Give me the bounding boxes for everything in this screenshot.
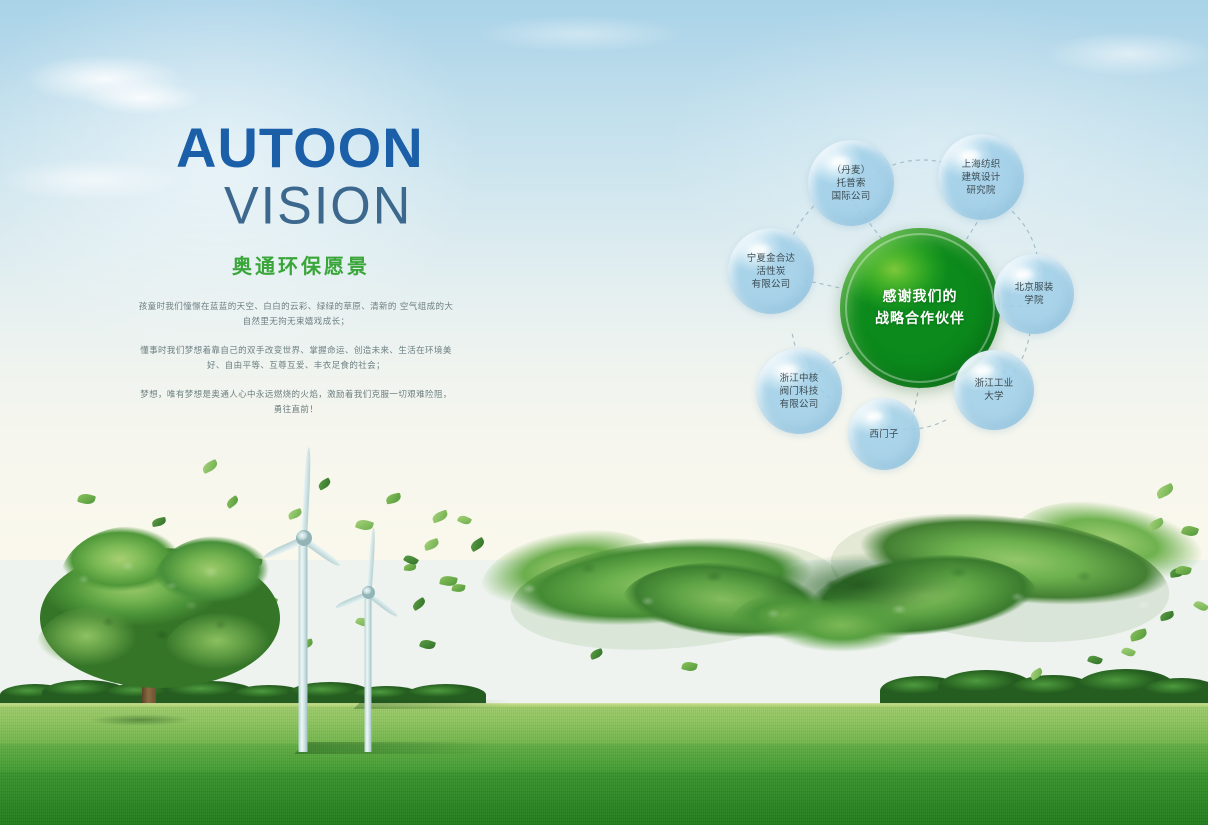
turbine-mast — [365, 592, 372, 752]
partner-label: 北京服装 学院 — [1009, 281, 1060, 307]
mission-paragraph: 孩童时我们憧憬在蓝蓝的天空、白白的云彩、绿绿的草原、清新的 空气组成的大自然里无… — [136, 300, 456, 330]
partner-bubble-zhonghe-valve[interactable]: 浙江中核 阀门科技 有限公司 — [756, 348, 842, 434]
partner-bubble-topsoe[interactable]: （丹麦） 托普索 国际公司 — [808, 140, 894, 226]
brand-block: AUTOON VISION 奥通环保愿景 — [176, 120, 596, 279]
partner-label-line: 西门子 — [869, 428, 898, 441]
hub-label: 感谢我们的 战略合作伙伴 — [875, 286, 965, 330]
turbine-hub — [362, 586, 375, 599]
tree-foliage-texture — [40, 530, 284, 694]
partner-label-line: 浙江工业 — [975, 377, 1014, 390]
partner-label-line: 阀门科技 — [780, 385, 819, 398]
partner-label-line: 有限公司 — [780, 398, 819, 411]
tree-shadow — [66, 712, 214, 728]
partner-label-line: 活性炭 — [747, 265, 796, 278]
cloud — [430, 8, 730, 60]
poster-canvas: AUTOON VISION 奥通环保愿景 孩童时我们憧憬在蓝蓝的天空、白白的云彩… — [0, 0, 1208, 825]
mission-paragraph: 懂事时我们梦想着靠自己的双手改变世界、掌握命运、创造未来、生活在环境美好、自由平… — [136, 344, 456, 374]
partner-diagram: 感谢我们的 战略合作伙伴 （丹麦） 托普索 国际公司 上海纺织 建筑设计 研究院… — [700, 110, 1140, 480]
partner-label: 上海纺织 建筑设计 研究院 — [956, 158, 1007, 197]
turbine-blade — [301, 447, 312, 539]
turbine-blade — [367, 527, 377, 593]
partner-label-line: 大学 — [975, 390, 1014, 403]
partner-bubble-siemens[interactable]: 西门子 — [848, 398, 920, 470]
partner-label: 浙江中核 阀门科技 有限公司 — [774, 372, 825, 411]
brand-subtitle: VISION — [224, 179, 596, 232]
handshake-leaf-texture — [470, 494, 1208, 700]
partner-label-line: 学院 — [1015, 294, 1054, 307]
partner-label-line: 托普索 — [832, 177, 871, 190]
partner-label: 浙江工业 大学 — [969, 377, 1020, 403]
partner-label: （丹麦） 托普索 国际公司 — [826, 164, 877, 203]
wind-turbine-large — [258, 452, 348, 752]
leaf — [419, 638, 436, 651]
partner-label-line: 研究院 — [962, 184, 1001, 197]
tree — [34, 520, 284, 720]
partner-bubble-shanghai-textile[interactable]: 上海纺织 建筑设计 研究院 — [938, 134, 1024, 220]
partner-bubble-bift[interactable]: 北京服装 学院 — [994, 254, 1074, 334]
partner-label-line: 上海纺织 — [962, 158, 1001, 171]
partner-bubble-jinheda[interactable]: 宁夏金合达 活性炭 有限公司 — [728, 228, 814, 314]
brand-title: AUTOON — [176, 120, 596, 176]
partner-label-line: 有限公司 — [747, 278, 796, 291]
leaf-handshake — [470, 480, 1208, 710]
leaf — [451, 583, 465, 593]
mission-paragraph: 梦想，唯有梦想是奥通人心中永远燃烧的火焰，激励着我们克服一切艰难险阻，勇往直前！ — [136, 388, 456, 418]
partner-label: 西门子 — [863, 428, 904, 441]
partner-bubble-zjut[interactable]: 浙江工业 大学 — [954, 350, 1034, 430]
partner-label-line: 浙江中核 — [780, 372, 819, 385]
partner-label-line: 建筑设计 — [962, 171, 1001, 184]
turbine-mast — [299, 538, 308, 752]
hub-label-line1: 感谢我们的 — [875, 286, 965, 308]
horizon-line — [0, 703, 1208, 707]
partner-label-line: 北京服装 — [1015, 281, 1054, 294]
partner-label-line: 宁夏金合达 — [747, 252, 796, 265]
partner-label-line: （丹麦） — [832, 164, 871, 177]
brand-tagline-cn: 奥通环保愿景 — [232, 250, 596, 279]
hub-label-line2: 战略合作伙伴 — [875, 308, 965, 330]
turbine-hub — [296, 530, 312, 546]
partner-label-line: 国际公司 — [832, 190, 871, 203]
leaf — [411, 597, 427, 611]
mission-statement: 孩童时我们憧憬在蓝蓝的天空、白白的云彩、绿绿的草原、清新的 空气组成的大自然里无… — [136, 300, 456, 418]
partner-label: 宁夏金合达 活性炭 有限公司 — [741, 252, 802, 291]
cloud — [58, 74, 228, 122]
